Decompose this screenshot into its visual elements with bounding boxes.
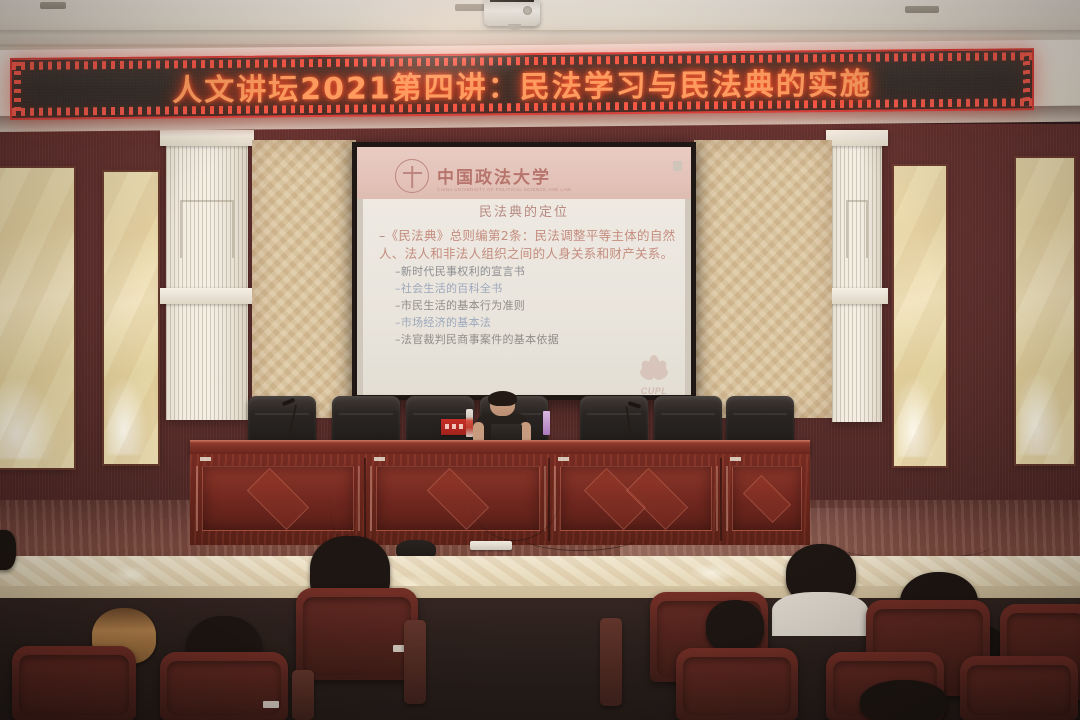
marble-panel-right-2 xyxy=(1016,158,1074,464)
university-crest-icon xyxy=(395,159,429,193)
slide-title: 民法典的定位 xyxy=(357,201,691,220)
led-border-left xyxy=(14,62,21,116)
audience-seat xyxy=(960,656,1078,720)
audience-seat xyxy=(12,646,136,720)
marble-panel-left-1 xyxy=(0,168,74,468)
university-name-en: CHINA UNIVERSITY OF POLITICAL SCIENCE AN… xyxy=(437,187,571,192)
slide-bullet-sub: –新时代民事权利的宣言书 xyxy=(395,263,677,280)
pilaster-right xyxy=(832,130,882,422)
seat-armrest xyxy=(600,618,622,706)
slide-bullet-sub: –市场经济的基本法 xyxy=(395,314,677,331)
water-bottle xyxy=(466,409,473,437)
slide-bullet-primary: –《民法典》总则编第2条：民法调整平等主体的自然人、法人和非法人组织之间的人身关… xyxy=(379,227,677,263)
audience-seat xyxy=(296,588,418,680)
projection-screen-frame: 中国政法大学 CHINA UNIVERSITY OF POLITICAL SCI… xyxy=(352,142,696,400)
lecture-hall-photo: 中国政法大学 CHINA UNIVERSITY OF POLITICAL SCI… xyxy=(0,0,1080,720)
seat-armrest xyxy=(404,620,426,704)
marble-panel-left-2 xyxy=(104,172,158,464)
audience-head xyxy=(0,530,16,570)
led-border-right xyxy=(1023,52,1030,106)
panel-chair xyxy=(726,396,794,444)
ceiling-vent xyxy=(905,6,939,13)
projector-lens xyxy=(508,24,521,30)
hatched-wall-left xyxy=(252,140,356,418)
desk-top-surface xyxy=(190,440,810,454)
floor-cable xyxy=(520,520,640,551)
desk-panel xyxy=(720,458,812,541)
desk-item-purple xyxy=(543,411,550,435)
slide-bullet-text: 法官裁判民商事案件的基本依据 xyxy=(401,333,559,346)
projection-screen: 中国政法大学 CHINA UNIVERSITY OF POLITICAL SCI… xyxy=(357,147,691,395)
ceiling-projector xyxy=(484,0,540,26)
audience-seat xyxy=(676,648,798,720)
audience-seat xyxy=(160,652,288,720)
slide-corner-chip-icon xyxy=(673,161,682,171)
power-strip xyxy=(470,541,512,550)
seat-armrest xyxy=(292,670,314,720)
panel-chair xyxy=(654,396,722,444)
pilaster-left xyxy=(166,130,248,420)
ceiling-seam xyxy=(0,30,1080,35)
hatched-wall-right xyxy=(694,140,832,418)
slide-bullet-sub: –社会生活的百科全书 xyxy=(395,280,677,297)
slide-bullet-list: –《民法典》总则编第2条：民法调整平等主体的自然人、法人和非法人组织之间的人身关… xyxy=(379,227,677,348)
led-banner-text: 人文讲坛2021第四讲：民法学习与民法典的实施 xyxy=(38,57,1006,110)
led-marquee-display: 人文讲坛2021第四讲：民法学习与民法典的实施 xyxy=(10,48,1034,120)
speaker-glasses xyxy=(493,403,512,408)
slide-bullet-sub: –市民生活的基本行为准则 xyxy=(395,297,677,314)
cupl-lotus-icon xyxy=(631,347,677,389)
seat-number-label xyxy=(263,701,279,708)
slide-bullet-text: 《民法典》总则编第2条：民法调整平等主体的自然人、法人和非法人组织之间的人身关系… xyxy=(379,228,675,261)
slide-bullet-text: 社会生活的百科全书 xyxy=(401,282,503,295)
slide-bullet-text: 市场经济的基本法 xyxy=(401,316,491,329)
audience-head xyxy=(706,600,764,652)
panel-chair xyxy=(332,396,400,444)
cupl-watermark-text: CUPL xyxy=(631,386,677,395)
ceiling-vent xyxy=(40,2,66,9)
marble-panel-right-1 xyxy=(894,166,946,466)
audience-head xyxy=(860,680,948,720)
slide-bullet-text: 市民生活的基本行为准则 xyxy=(401,299,525,312)
audience-shoulders xyxy=(772,592,868,636)
slide-bullet-text: 新时代民事权利的宣言书 xyxy=(401,265,525,278)
university-name-cn: 中国政法大学 xyxy=(437,163,551,188)
slide-bullet-sub: –法官裁判民商事案件的基本依据 xyxy=(395,331,677,348)
